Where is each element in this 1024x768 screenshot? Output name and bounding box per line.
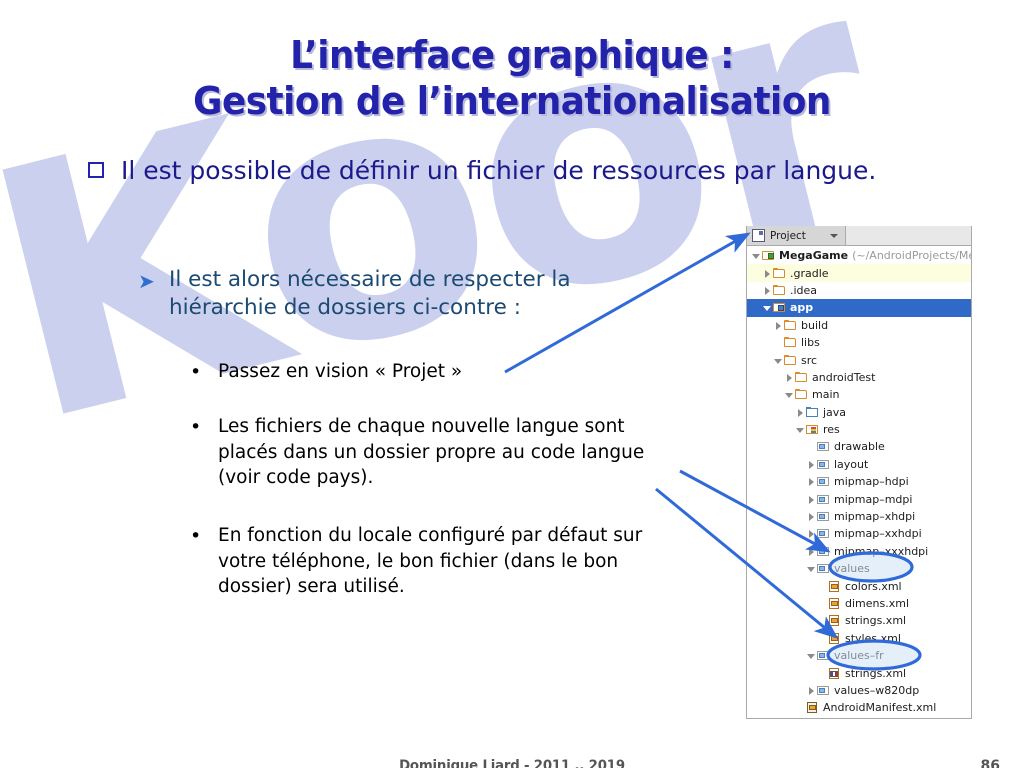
appmod-icon	[773, 302, 786, 313]
tree-row-label: res	[823, 423, 840, 436]
tree-row[interactable]: .gradle	[747, 264, 971, 281]
valfolder-icon	[817, 459, 830, 470]
folder-icon	[773, 285, 786, 296]
chevron-down-icon[interactable]	[806, 650, 817, 661]
tree-row[interactable]: mipmap–hdpi	[747, 473, 971, 490]
tree-row[interactable]: values	[747, 560, 971, 577]
tree-row-label: layout	[834, 458, 868, 471]
folder-icon	[773, 268, 786, 279]
srcfolder-icon	[806, 407, 819, 418]
bullet-level3-text: Les fichiers de chaque nouvelle langue s…	[218, 414, 680, 491]
tree-row[interactable]: mipmap–xxxhdpi	[747, 543, 971, 560]
tree-row-label: build	[801, 319, 828, 332]
tree-row[interactable]: mipmap–mdpi	[747, 490, 971, 507]
tree-row[interactable]: build	[747, 317, 971, 334]
tree-row[interactable]: strings.xml	[747, 664, 971, 681]
square-bullet-icon	[88, 162, 104, 178]
chevron-down-icon[interactable]	[806, 563, 817, 574]
valfolder-icon	[817, 476, 830, 487]
dot-bullet-icon: •	[190, 359, 206, 385]
tree-row[interactable]: colors.xml	[747, 577, 971, 594]
chevron-right-icon[interactable]	[795, 407, 806, 418]
folder-icon	[784, 355, 797, 366]
project-tool-window-tabbar: Project	[747, 226, 971, 246]
chevron-right-icon[interactable]	[806, 511, 817, 522]
chevron-down-icon[interactable]	[784, 389, 795, 400]
folder-icon	[784, 320, 797, 331]
tree-row-label: AndroidManifest.xml	[823, 701, 936, 714]
android-studio-project-panel: Project MegaGame(~/AndroidProjects/Me.gr…	[746, 226, 972, 719]
chevron-right-icon[interactable]	[806, 476, 817, 487]
toggle-spacer	[817, 668, 828, 679]
manifest-icon	[806, 702, 819, 713]
tree-row-label: strings.xml	[845, 667, 906, 680]
chevron-right-icon[interactable]	[806, 685, 817, 696]
title-line-1: L’interface graphique :	[31, 32, 994, 78]
tree-row[interactable]: libs	[747, 334, 971, 351]
tree-row-label: .gradle	[790, 267, 829, 280]
tree-row-label: app	[790, 301, 813, 314]
valfolder-icon	[817, 494, 830, 505]
chevron-down-icon[interactable]	[795, 424, 806, 435]
toggle-spacer	[817, 615, 828, 626]
tree-row[interactable]: AndroidManifest.xml	[747, 699, 971, 716]
tree-row-label: mipmap–mdpi	[834, 493, 912, 506]
bullet-level3-text: En fonction du locale configuré par défa…	[218, 523, 680, 600]
bullet-level3-item: • En fonction du locale configuré par dé…	[190, 523, 680, 600]
arrow-bullet-icon: ➤	[138, 267, 155, 295]
project-icon	[752, 229, 765, 242]
chevron-right-icon[interactable]	[784, 372, 795, 383]
tree-row-label: dimens.xml	[845, 597, 909, 610]
valfolder-icon	[817, 528, 830, 539]
bullet-level3-item: • Les fichiers de chaque nouvelle langue…	[190, 414, 680, 491]
tree-row[interactable]: dimens.xml	[747, 595, 971, 612]
chevron-right-icon[interactable]	[806, 459, 817, 470]
xmlfile-icon	[828, 598, 841, 609]
tree-row-label: mipmap–xxhdpi	[834, 527, 922, 540]
bullet-level1-text: Il est possible de définir un fichier de…	[121, 154, 876, 188]
toggle-spacer	[817, 581, 828, 592]
tree-row[interactable]: values–w820dp	[747, 682, 971, 699]
tree-row[interactable]: MegaGame(~/AndroidProjects/Me	[747, 247, 971, 264]
chevron-right-icon[interactable]	[762, 268, 773, 279]
chevron-down-icon[interactable]	[773, 355, 784, 366]
tree-row-label: main	[812, 388, 839, 401]
tree-row-label: styles.xml	[845, 632, 901, 645]
bullet-level2-text: Il est alors nécessaire de respecter la …	[169, 266, 658, 322]
folder-icon	[795, 372, 808, 383]
tab-project-label: Project	[770, 230, 825, 242]
chevron-right-icon[interactable]	[806, 528, 817, 539]
chevron-down-icon[interactable]	[830, 234, 838, 238]
tree-row-label: .idea	[790, 284, 817, 297]
tree-row[interactable]: mipmap–xxhdpi	[747, 525, 971, 542]
valfolder-icon	[817, 563, 830, 574]
tree-row[interactable]: src	[747, 351, 971, 368]
xmlfile-icon	[828, 581, 841, 592]
footer-author: Dominique Liard - 2011 .. 2019	[26, 758, 999, 768]
tree-row-label: androidTest	[812, 371, 875, 384]
tree-row-label: MegaGame	[779, 249, 848, 262]
toggle-spacer	[773, 337, 784, 348]
project-tree[interactable]: MegaGame(~/AndroidProjects/Me.gradle.ide…	[747, 246, 971, 717]
valfolder-icon	[817, 511, 830, 522]
tree-row-label: src	[801, 354, 817, 367]
tree-row[interactable]: androidTest	[747, 369, 971, 386]
slide-canvas: Koor L’interface graphique : Gestion de …	[0, 0, 1024, 768]
xmlflag-icon	[828, 668, 841, 679]
tree-row[interactable]: app	[747, 299, 971, 316]
title-line-2: Gestion de l’internationalisation	[31, 78, 994, 124]
chevron-right-icon[interactable]	[806, 494, 817, 505]
module-icon	[762, 250, 775, 261]
dot-bullet-icon: •	[190, 523, 206, 549]
chevron-right-icon[interactable]	[806, 546, 817, 557]
resfolder-icon	[806, 424, 819, 435]
tab-project[interactable]: Project	[747, 226, 846, 245]
tree-row[interactable]: .idea	[747, 282, 971, 299]
xmlfile-icon	[828, 615, 841, 626]
tree-row[interactable]: strings.xml	[747, 612, 971, 629]
tree-row-label: strings.xml	[845, 614, 906, 627]
tree-row-label: values–w820dp	[834, 684, 919, 697]
tree-row-label: drawable	[834, 440, 885, 453]
chevron-down-icon[interactable]	[751, 250, 762, 261]
toggle-spacer	[817, 633, 828, 644]
bullet-level3-text: Passez en vision « Projet »	[218, 359, 462, 385]
tree-row[interactable]: layout	[747, 456, 971, 473]
tree-row-path: (~/AndroidProjects/Me	[852, 249, 972, 262]
folder-icon	[795, 389, 808, 400]
tree-row[interactable]: java	[747, 404, 971, 421]
tree-row-label: libs	[801, 336, 820, 349]
tree-row-label: colors.xml	[845, 580, 902, 593]
valfolder-icon	[817, 441, 830, 452]
bullet-level1: Il est possible de définir un fichier de…	[88, 154, 948, 188]
tree-row[interactable]: styles.xml	[747, 630, 971, 647]
valfolder-icon	[817, 546, 830, 557]
valfolder-icon	[817, 650, 830, 661]
folder-icon	[784, 337, 797, 348]
tree-row-label: values	[834, 562, 870, 575]
tree-row-label: values–fr	[834, 649, 884, 662]
toggle-spacer	[806, 441, 817, 452]
tree-row-label: mipmap–hdpi	[834, 475, 909, 488]
tree-row-label: mipmap–xhdpi	[834, 510, 915, 523]
footer-page-number: 86	[981, 758, 1000, 768]
page-title: L’interface graphique : Gestion de l’int…	[0, 32, 1024, 124]
tree-row[interactable]: mipmap–xhdpi	[747, 508, 971, 525]
valfolder-icon	[817, 685, 830, 696]
toggle-spacer	[817, 598, 828, 609]
chevron-right-icon[interactable]	[762, 285, 773, 296]
xmlfile-icon	[828, 633, 841, 644]
toggle-spacer	[795, 702, 806, 713]
dot-bullet-icon: •	[190, 414, 206, 440]
chevron-down-icon[interactable]	[762, 302, 773, 313]
bullet-level3-item: • Passez en vision « Projet »	[190, 359, 680, 385]
chevron-right-icon[interactable]	[773, 320, 784, 331]
bullet-level2: ➤ Il est alors nécessaire de respecter l…	[138, 266, 658, 322]
tree-row-label: mipmap–xxxhdpi	[834, 545, 928, 558]
tree-row[interactable]: values–fr	[747, 647, 971, 664]
tree-row[interactable]: res	[747, 421, 971, 438]
tree-row[interactable]: main	[747, 386, 971, 403]
tree-row-label: java	[823, 406, 846, 419]
tree-row[interactable]: drawable	[747, 438, 971, 455]
